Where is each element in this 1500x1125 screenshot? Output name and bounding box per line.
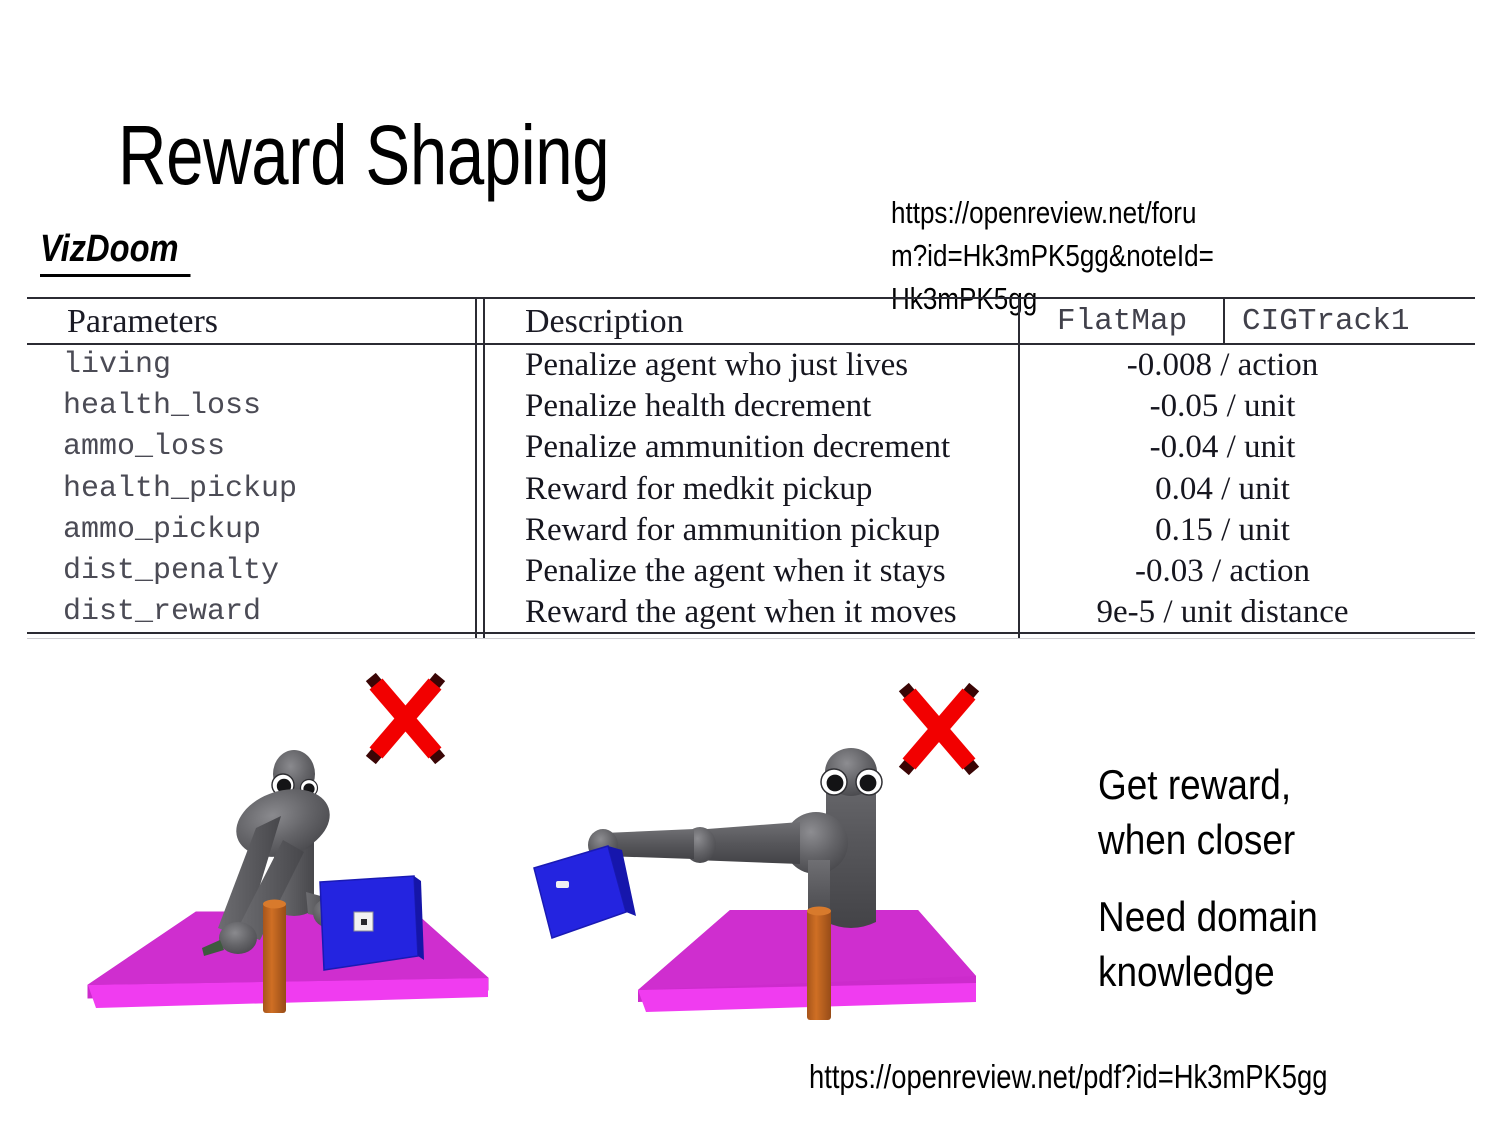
- table-row: Penalize the agent when it stays: [483, 551, 1018, 592]
- table-header-description: Description: [525, 301, 684, 343]
- table-vrule-header-split: [1223, 297, 1225, 343]
- table-header-cigtrack1: CIGTrack1: [1242, 301, 1409, 343]
- table-row: health_pickup: [27, 469, 475, 510]
- table-vrule-left-inner: [475, 297, 477, 638]
- table-row: -0.03 / action: [1018, 551, 1475, 592]
- table-row: ammo_loss: [27, 427, 475, 468]
- table-body-values: -0.008 / action -0.05 / unit -0.04 / uni…: [1018, 345, 1475, 633]
- panel-blue: [320, 876, 424, 970]
- table-row: 0.04 / unit: [1018, 469, 1475, 510]
- table-rule-top: [27, 297, 1475, 299]
- table-row: Reward for medkit pickup: [483, 469, 1018, 510]
- table-rule-clipped: [27, 638, 1475, 639]
- table-row: dist_reward: [27, 592, 475, 633]
- subtitle-vizdoom-label: VizDoom: [40, 228, 191, 277]
- table-row: -0.008 / action: [1018, 345, 1475, 386]
- page-title: Reward Shaping: [118, 113, 609, 197]
- table-header-parameters: Parameters: [67, 301, 218, 343]
- note-get-reward: Get reward, when closer: [1098, 758, 1388, 867]
- table-row: Reward for ammunition pickup: [483, 510, 1018, 551]
- table-body-parameters: living health_loss ammo_loss health_pick…: [27, 345, 475, 633]
- panel-blue: [534, 846, 636, 938]
- table-row: -0.04 / unit: [1018, 427, 1475, 468]
- robot-figure-left: [78, 660, 498, 1045]
- table-row: health_loss: [27, 386, 475, 427]
- table-row: Penalize health decrement: [483, 386, 1018, 427]
- red-x-mark: [375, 682, 436, 755]
- table-row: dist_penalty: [27, 551, 475, 592]
- note-need-domain-knowledge: Need domain knowledge: [1098, 890, 1388, 999]
- robot-figure-right: [508, 660, 998, 1045]
- table-row: Reward the agent when it moves: [483, 592, 1018, 633]
- source-url-bottom[interactable]: https://openreview.net/pdf?id=Hk3mPK5gg: [809, 1058, 1327, 1096]
- reward-shaping-table: Parameters living health_loss ammo_loss …: [27, 297, 1475, 642]
- table-row: 0.15 / unit: [1018, 510, 1475, 551]
- table-row: Penalize ammunition decrement: [483, 427, 1018, 468]
- table-row: -0.05 / unit: [1018, 386, 1475, 427]
- subtitle-vizdoom: VizDoom: [40, 228, 191, 277]
- peg-orange: [807, 907, 831, 1021]
- table-body-description: Penalize agent who just lives Penalize h…: [483, 345, 1018, 633]
- table-row: ammo_pickup: [27, 510, 475, 551]
- platform-magenta: [88, 912, 488, 1008]
- peg-orange: [263, 900, 286, 1014]
- table-row: 9e-5 / unit distance: [1018, 592, 1475, 633]
- table-row: living: [27, 345, 475, 386]
- table-row: Penalize agent who just lives: [483, 345, 1018, 386]
- red-x-mark: [908, 692, 970, 766]
- table-header-flatmap: FlatMap: [1057, 301, 1187, 343]
